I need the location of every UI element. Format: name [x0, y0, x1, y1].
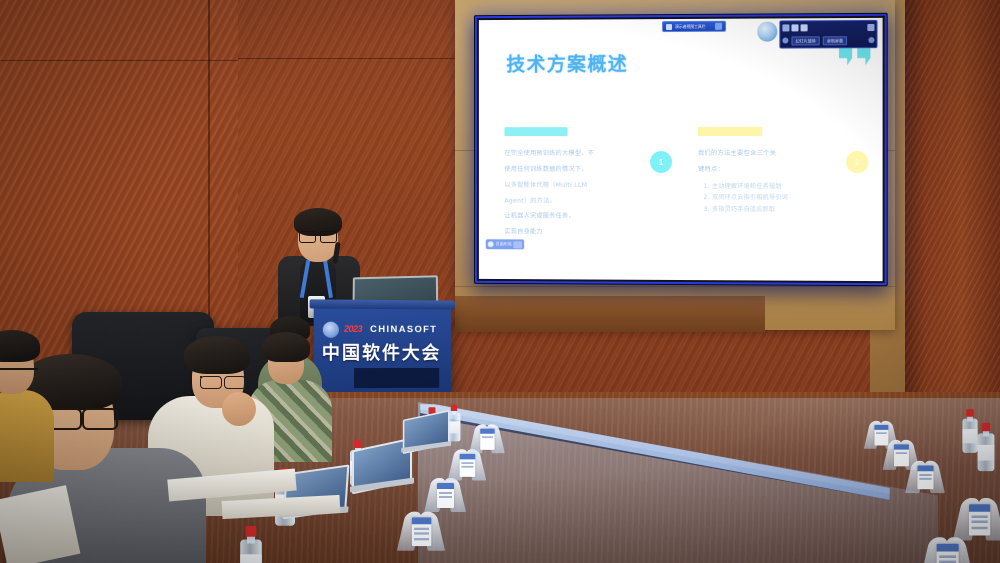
attendee-2-glasses — [82, 408, 118, 430]
banner-chinese: 中国软件大会 — [322, 339, 441, 365]
name-card-holder — [909, 459, 941, 493]
minimize-icon[interactable] — [782, 24, 789, 31]
right-item-list: 主动理解环境和任务规划 双闭环点云指引相机导引词 多指灵巧手自适应抓取 — [698, 181, 826, 216]
left-badge: 1 — [650, 151, 672, 173]
slide-canvas: 演示者视图工具栏 幻灯片放映 录制屏幕 — [479, 18, 883, 281]
attendee-1-glasses — [0, 368, 38, 382]
attendee-laptop[interactable] — [403, 415, 451, 449]
right-badge: 2 — [846, 151, 868, 173]
signal-icon — [666, 24, 672, 30]
left-line: 在完全使用预训练的大模型、不 — [504, 149, 630, 160]
volume-icon[interactable] — [868, 37, 874, 43]
name-card-holder — [428, 476, 462, 512]
layout-icon — [488, 241, 494, 247]
window-toolbar[interactable]: 幻灯片放映 录制屏幕 — [780, 33, 876, 48]
name-card-holder — [401, 509, 440, 550]
cursor-icon[interactable] — [715, 23, 722, 30]
left-line: Agent）的方法， — [504, 196, 630, 207]
column-right: 2 我们的方法主要包含三个关 键特点： 主动理解环境和任务规划 双闭环点云指引相… — [698, 127, 868, 245]
banner-year: 2023 — [344, 324, 362, 334]
right-accent-bar — [698, 127, 762, 136]
left-line: 实现自身能力 — [504, 228, 630, 239]
quote-decoration — [839, 48, 870, 65]
close-icon[interactable] — [867, 23, 874, 30]
left-line: 让机器人完成服务任务， — [504, 212, 630, 223]
list-item: 主动理解环境和任务规划 — [712, 181, 826, 193]
conference-room-scene: 演示者视图工具栏 幻灯片放映 录制屏幕 — [0, 0, 1000, 563]
water-bottle — [962, 409, 977, 453]
quote-mark-icon — [857, 48, 870, 65]
right-heading: 我们的方法主要包含三个关 — [698, 149, 826, 160]
slide-footer-button[interactable] — [514, 241, 523, 248]
podium-top-edge — [310, 299, 455, 309]
record-chip[interactable]: 录制屏幕 — [823, 36, 847, 45]
presenter-toolbar-label: 演示者视图工具栏 — [675, 23, 712, 29]
maximize-icon[interactable] — [791, 24, 798, 31]
attendee-3-hand — [222, 392, 256, 426]
presentation-screen[interactable]: 演示者视图工具栏 幻灯片放映 录制屏幕 — [474, 13, 888, 286]
window-titlebar[interactable] — [780, 21, 876, 34]
banner-english: CHINASOFT — [370, 324, 437, 335]
left-line: 以多智能体代理（Multi LLM — [504, 180, 630, 191]
presenter-toolbar[interactable]: 演示者视图工具栏 — [662, 21, 726, 32]
slideshow-chip[interactable]: 幻灯片放映 — [791, 36, 819, 45]
left-accent-bar — [504, 127, 567, 136]
podium-shadow — [354, 368, 439, 388]
attendee-1 — [0, 328, 54, 478]
quote-mark-icon — [839, 48, 852, 65]
left-line: 使用任何训练数据的情况下， — [504, 165, 630, 176]
slide-content-columns: 1 在完全使用预训练的大模型、不 使用任何训练数据的情况下， 以多智能体代理（M… — [504, 127, 868, 245]
water-bottle — [240, 526, 262, 563]
column-left: 1 在完全使用预训练的大模型、不 使用任何训练数据的情况下， 以多智能体代理（M… — [504, 127, 672, 244]
slide-footer-badge[interactable]: 页面布局 — [486, 239, 525, 249]
presenter-glasses — [299, 231, 337, 241]
slide-title: 技术方案概述 — [506, 49, 628, 76]
slideshow-window-overlay[interactable]: 幻灯片放映 录制屏幕 — [779, 20, 877, 49]
list-item: 多指灵巧手自适应抓取 — [712, 204, 826, 216]
water-bottle — [978, 423, 995, 471]
paper-document — [0, 485, 80, 563]
list-item: 双闭环点云指引相机导引词 — [712, 192, 826, 204]
tv-shelf — [455, 296, 765, 332]
restore-icon[interactable] — [801, 24, 808, 31]
organization-logo — [757, 21, 777, 41]
name-card-holder — [473, 423, 502, 454]
name-card-holder — [925, 535, 969, 563]
right-heading-2: 键特点： — [698, 165, 826, 176]
slide-footer-label: 页面布局 — [496, 241, 512, 247]
audio-icon — [782, 37, 788, 43]
